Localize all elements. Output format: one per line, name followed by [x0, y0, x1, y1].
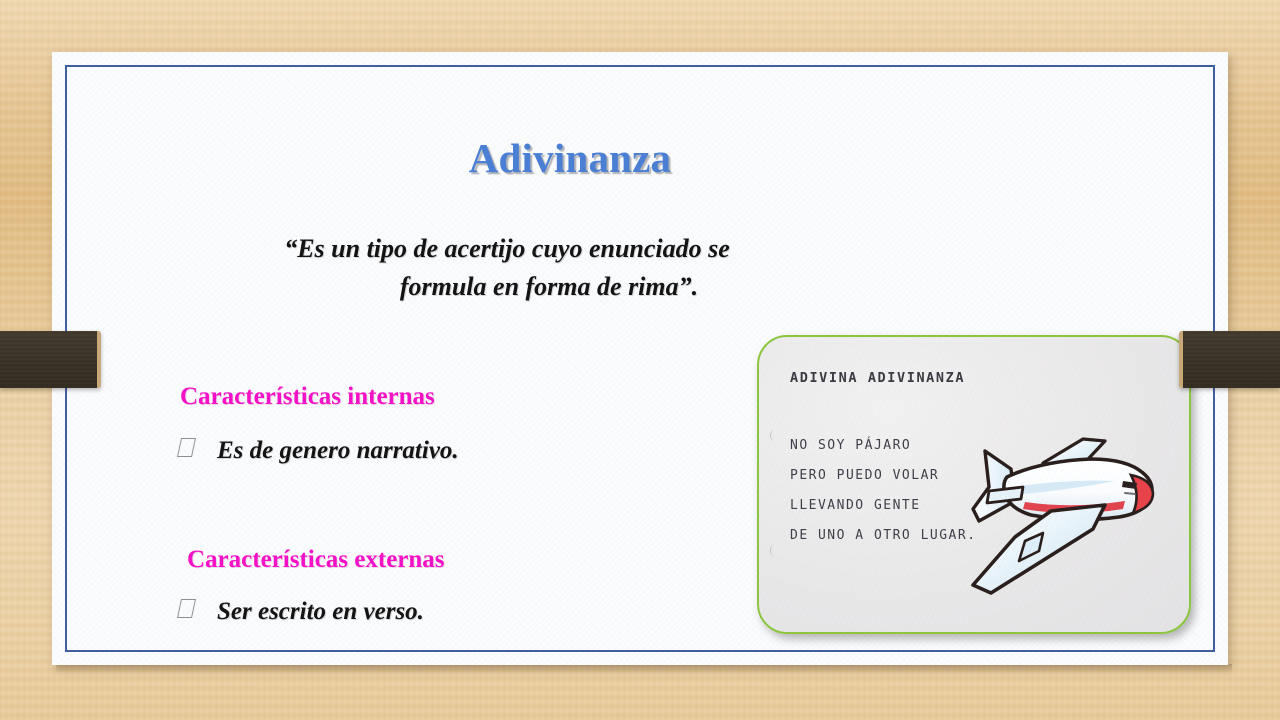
verse-line-2: PERO PUEDO VOLAR: [790, 461, 977, 491]
page-title: Adivinanza: [52, 134, 1228, 182]
decorative-bar-left: [0, 331, 101, 388]
empty-box-glyph-icon: [177, 438, 196, 457]
picture-heading: ADIVINA ADIVINANZA: [790, 370, 965, 386]
bullet-item-internal: Es de genero narrativo.: [179, 437, 459, 465]
slide-card: Adivinanza “Es un tipo de acertijo cuyo …: [52, 52, 1228, 665]
section-heading-internal-features: Características internas: [180, 383, 435, 411]
slide-card-shadow: [56, 664, 1232, 673]
definition-quote: “Es un tipo de acertijo cuyo enunciado s…: [202, 230, 812, 307]
verse-line-3: LLEVANDO GENTE: [790, 491, 977, 521]
bullet-label-internal: Es de genero narrativo.: [217, 437, 459, 465]
airplane-illustration: [955, 425, 1179, 603]
punch-hole-mark-icon: [770, 430, 778, 441]
decorative-bar-right: [1179, 331, 1280, 388]
riddle-picture-card: ADIVINA ADIVINANZA NO SOY PÁJARO PERO PU…: [757, 335, 1191, 634]
empty-box-glyph-icon: [177, 599, 196, 618]
section-heading-external-features: Características externas: [187, 546, 445, 574]
verse-line-1: NO SOY PÁJARO: [790, 431, 977, 461]
verse-line-4: DE UNO A OTRO LUGAR.: [790, 521, 977, 551]
bullet-item-external: Ser escrito en verso.: [179, 598, 424, 626]
quote-line-1: “Es un tipo de acertijo cuyo enunciado s…: [202, 230, 812, 268]
picture-verse: NO SOY PÁJARO PERO PUEDO VOLAR LLEVANDO …: [790, 431, 977, 551]
slide-background: Adivinanza “Es un tipo de acertijo cuyo …: [0, 0, 1280, 720]
punch-hole-mark-icon: [770, 545, 778, 556]
quote-line-2: formula en forma de rima”.: [202, 268, 812, 306]
bullet-label-external: Ser escrito en verso.: [217, 598, 424, 626]
